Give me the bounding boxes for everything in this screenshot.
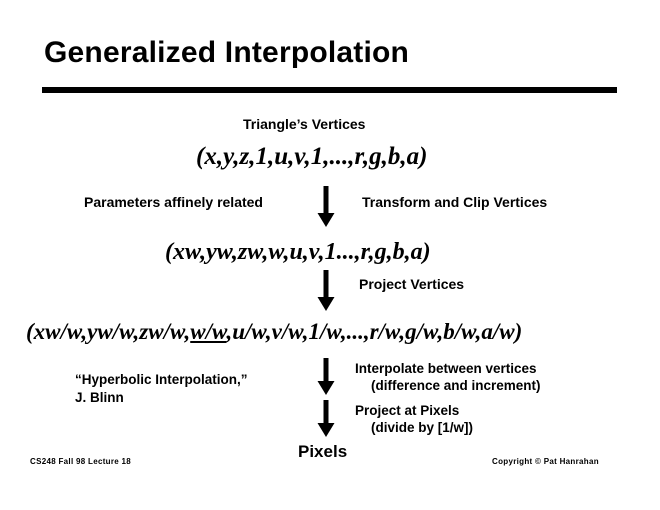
title-underline-rule [42, 87, 617, 93]
citation-hyperbolic-interpolation: “Hyperbolic Interpolation,” [75, 372, 248, 389]
formula-screen-space-prefix: (xw/w,yw/w,zw/w, [26, 319, 190, 344]
note-project-at-pixels: Project at Pixels [355, 403, 459, 420]
note-project-vertices: Project Vertices [359, 276, 464, 294]
note-transform-and-clip-vertices: Transform and Clip Vertices [362, 194, 547, 212]
down-arrow-icon [315, 358, 337, 396]
note-parameters-affinely-related: Parameters affinely related [84, 194, 263, 212]
formula-clip-space: (xw,yw,zw,w,u,v,1...,r,g,b,a) [165, 240, 431, 264]
citation-author: J. Blinn [75, 390, 124, 407]
note-interpolate-between-vertices: Interpolate between vertices [355, 361, 537, 378]
formula-screen-space-suffix: ,u/w,v/w,1/w,...,r/w,g/w,b/w,a/w) [226, 319, 522, 344]
page-title: Generalized Interpolation [44, 36, 409, 69]
footer-course-info: CS248 Fall 98 Lecture 18 [30, 457, 131, 466]
note-difference-and-increment: (difference and increment) [371, 378, 541, 395]
down-arrow-icon [315, 400, 337, 438]
formula-vertex-attributes: (x,y,z,1,u,v,1,...,r,g,b,a) [196, 144, 427, 169]
stage-heading-triangle-vertices: Triangle’s Vertices [243, 116, 365, 134]
formula-screen-space-highlight: w/w [190, 319, 226, 344]
footer-copyright: Copyright © Pat Hanrahan [492, 457, 599, 466]
note-divide-by-one-over-w: (divide by [1/w]) [371, 420, 473, 437]
down-arrow-icon [315, 186, 337, 228]
stage-label-pixels: Pixels [298, 441, 347, 462]
slide-canvas: Generalized Interpolation Triangle’s Ver… [0, 0, 660, 510]
down-arrow-icon [315, 270, 337, 312]
formula-screen-space: (xw/w,yw/w,zw/w,w/w,u/w,v/w,1/w,...,r/w,… [26, 320, 522, 343]
